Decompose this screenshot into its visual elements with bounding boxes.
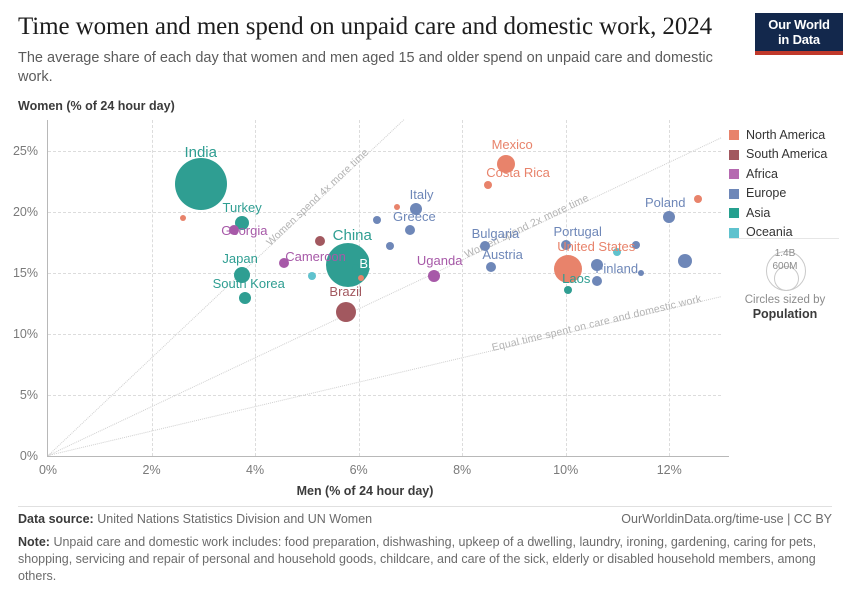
- data-point[interactable]: [694, 195, 702, 203]
- data-point-greece[interactable]: [405, 225, 415, 235]
- data-point-label-laos: Laos: [562, 271, 590, 286]
- y-axis-tick-label: 20%: [13, 205, 38, 219]
- gridline-horizontal: [48, 212, 721, 213]
- data-point-costa-rica[interactable]: [484, 181, 492, 189]
- chart-header: Time women and men spend on unpaid care …: [18, 12, 758, 87]
- data-point-south-korea[interactable]: [239, 292, 251, 304]
- note-label: Note:: [18, 535, 50, 549]
- data-point-label-united-states: United States: [557, 239, 635, 254]
- data-point[interactable]: [180, 215, 186, 221]
- x-axis-tick-label: 10%: [553, 463, 578, 477]
- legend-item-north-america[interactable]: North America: [729, 128, 847, 142]
- chart-subtitle: The average share of each day that women…: [18, 49, 730, 87]
- legend-swatch-icon: [729, 130, 739, 140]
- data-point-label-south-korea: South Korea: [213, 276, 285, 291]
- sized-by-prefix: Circles sized by: [745, 294, 826, 306]
- x-axis-tick-label: 8%: [453, 463, 471, 477]
- legend-item-south-america[interactable]: South America: [729, 148, 847, 162]
- logo-line-1: Our World: [761, 17, 837, 32]
- size-label-large: 1.4B: [729, 248, 841, 259]
- chart-footer: Data source: United Nations Statistics D…: [18, 512, 832, 585]
- data-point-label-finland: Finland: [595, 261, 638, 276]
- data-point-brazil[interactable]: [336, 302, 356, 322]
- data-point-austria[interactable]: [486, 262, 496, 272]
- sized-by-caption: Circles sized by Population: [729, 293, 841, 321]
- attribution-link[interactable]: OurWorldinData.org/time-use | CC BY: [621, 512, 832, 526]
- data-point-label-brazil: Brazil: [329, 284, 362, 299]
- footer-source-row: Data source: United Nations Statistics D…: [18, 512, 832, 526]
- gridline-vertical: [462, 120, 463, 456]
- size-legend-bubbles: 1.4B 600M: [729, 243, 841, 291]
- data-point-poland[interactable]: [663, 211, 675, 223]
- data-point-label-uganda: Uganda: [417, 253, 463, 268]
- footer-divider: [18, 506, 832, 507]
- data-point-laos[interactable]: [564, 286, 572, 294]
- data-point-label-india: India: [184, 144, 217, 161]
- data-point-label-japan: Japan: [222, 251, 257, 266]
- gridline-horizontal: [48, 334, 721, 335]
- data-point[interactable]: [373, 216, 381, 224]
- legend-item-africa[interactable]: Africa: [729, 167, 847, 181]
- gridline-vertical: [669, 120, 670, 456]
- y-axis-tick-label: 0%: [20, 449, 38, 463]
- logo-line-2: in Data: [761, 32, 837, 47]
- data-source-label: Data source:: [18, 512, 94, 526]
- scatter-plot: 0%5%10%15%20%25%0%2%4%6%8%10%12%Women sp…: [48, 120, 721, 456]
- data-point-label-poland: Poland: [645, 195, 685, 210]
- legend-item-label: Africa: [746, 168, 778, 181]
- data-point[interactable]: [638, 270, 644, 276]
- data-point-label-mexico: Mexico: [492, 137, 533, 152]
- legend-swatch-icon: [729, 228, 739, 238]
- chart-page: Time women and men spend on unpaid care …: [0, 0, 850, 600]
- data-point-label-turkey: Turkey: [223, 200, 262, 215]
- x-axis-tick-label: 6%: [350, 463, 368, 477]
- data-point[interactable]: [386, 242, 394, 250]
- legend-item-label: Europe: [746, 187, 786, 200]
- x-axis-title: Men (% of 24 hour day): [0, 484, 730, 498]
- legend-divider: [729, 238, 839, 239]
- data-point[interactable]: [315, 236, 325, 246]
- x-axis-tick-label: 0%: [39, 463, 57, 477]
- data-point-label-bulgaria: Bulgaria: [472, 226, 520, 241]
- data-point[interactable]: [358, 275, 364, 281]
- data-point-finland[interactable]: [592, 276, 602, 286]
- y-axis-tick-label: 5%: [20, 388, 38, 402]
- legend-item-asia[interactable]: Asia: [729, 206, 847, 220]
- data-point-label-cameroon: Cameroon: [285, 249, 346, 264]
- gridline-horizontal: [48, 395, 721, 396]
- x-axis-tick-label: 12%: [657, 463, 682, 477]
- data-point-label-greece: Greece: [393, 209, 436, 224]
- legend-item-label: South America: [746, 148, 827, 161]
- x-axis-line: [47, 456, 729, 457]
- data-source-value: United Nations Statistics Division and U…: [97, 512, 372, 526]
- x-axis-tick-label: 4%: [246, 463, 264, 477]
- data-source: Data source: United Nations Statistics D…: [18, 512, 372, 526]
- continent-legend: North AmericaSouth AmericaAfricaEuropeAs…: [729, 128, 847, 245]
- y-axis-title: Women (% of 24 hour day): [18, 99, 175, 113]
- legend-swatch-icon: [729, 208, 739, 218]
- note-value: Unpaid care and domestic work includes: …: [18, 535, 816, 583]
- data-point[interactable]: [308, 272, 316, 280]
- legend-swatch-icon: [729, 150, 739, 160]
- data-point-india[interactable]: [175, 158, 227, 210]
- y-axis-tick-label: 15%: [13, 266, 38, 280]
- legend-item-label: Asia: [746, 207, 770, 220]
- legend-swatch-icon: [729, 189, 739, 199]
- data-point-label-austria: Austria: [482, 247, 522, 262]
- owid-logo[interactable]: Our World in Data: [755, 13, 843, 55]
- legend-item-label: North America: [746, 129, 825, 142]
- data-point-label-georgia: Georgia: [221, 223, 267, 238]
- y-axis-tick-label: 10%: [13, 327, 38, 341]
- size-label-small: 600M: [729, 261, 841, 272]
- legend-swatch-icon: [729, 169, 739, 179]
- x-axis-tick-label: 2%: [142, 463, 160, 477]
- size-legend: 1.4B 600M Circles sized by Population: [729, 243, 841, 321]
- data-point-label-portugal: Portugal: [553, 224, 601, 239]
- sized-by-metric: Population: [729, 307, 841, 321]
- data-point[interactable]: [678, 254, 692, 268]
- data-point-label-italy: Italy: [410, 187, 434, 202]
- chart-note: Note: Unpaid care and domestic work incl…: [18, 534, 830, 585]
- data-point-uganda[interactable]: [428, 270, 440, 282]
- plot-frame: [48, 120, 721, 456]
- gridline-horizontal: [48, 151, 721, 152]
- data-point-label-china: China: [333, 227, 372, 244]
- data-point-label-costa-rica: Costa Rica: [486, 165, 550, 180]
- legend-item-europe[interactable]: Europe: [729, 187, 847, 201]
- y-axis-line: [47, 120, 48, 456]
- y-axis-tick-label: 25%: [13, 144, 38, 158]
- page-title: Time women and men spend on unpaid care …: [18, 12, 758, 42]
- data-point-label-bhutan: Bhutan: [359, 256, 400, 271]
